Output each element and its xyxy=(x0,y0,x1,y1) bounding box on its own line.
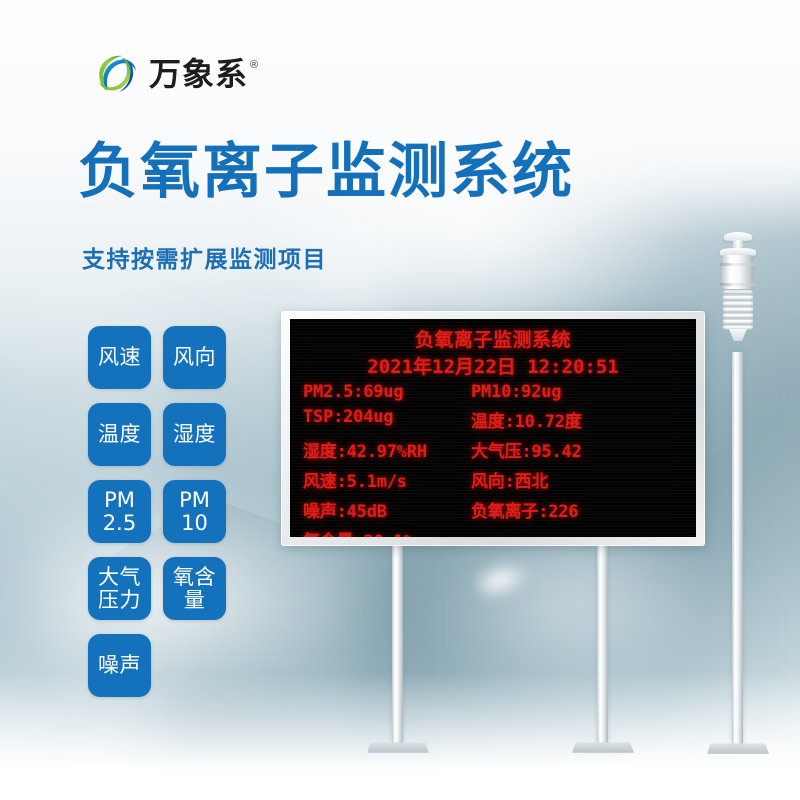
globe-swoosh-icon xyxy=(92,50,140,98)
reading-empty xyxy=(463,527,688,537)
reading-pm10: PM10:92ug xyxy=(463,382,688,402)
led-datetime: 2021年12月22日 12:20:51 xyxy=(290,352,696,379)
led-screen: 负氧离子监测系统 2021年12月22日 12:20:51 PM2.5:69ug… xyxy=(290,319,696,537)
badge-pm25[interactable]: PM 2.5 xyxy=(88,480,151,543)
page-title: 负氧离子监测系统 xyxy=(78,140,574,205)
reading-air-pressure: 大气压:95.42 xyxy=(463,437,688,462)
led-readings-grid: PM2.5:69ug PM10:92ug TSP:204ug 温度:10.72度… xyxy=(303,382,688,537)
support-pole-right xyxy=(597,543,608,743)
sensor-band-upper xyxy=(720,263,756,266)
brand-wordmark: 万象系 ® xyxy=(149,58,258,90)
page-subtitle: 支持按需扩展监测项目 xyxy=(82,240,327,274)
reading-noise: 噪声:45dB xyxy=(303,497,463,522)
badge-wind-speed[interactable]: 风速 xyxy=(88,326,151,389)
reading-pm25: PM2.5:69ug xyxy=(303,382,463,402)
support-pole-left xyxy=(392,543,403,743)
badge-temperature[interactable]: 温度 xyxy=(88,403,151,466)
badge-noise[interactable]: 噪声 xyxy=(88,634,151,697)
badge-pm10[interactable]: PM 10 xyxy=(163,480,226,543)
reading-wind-speed: 风速:5.1m/s xyxy=(303,467,463,492)
reading-temperature: 温度:10.72度 xyxy=(463,407,688,432)
reading-oxygen-content: 氧含量:20.1% xyxy=(303,527,463,537)
weather-sensor-icon xyxy=(716,232,760,362)
sensor-pole xyxy=(732,352,743,744)
sensor-band-lower xyxy=(720,283,756,286)
feature-badge-list: 风速 风向 温度 湿度 PM 2.5 PM 10 大气 压力 氧含 量 噪声 xyxy=(88,326,226,697)
brand-name: 万象系 xyxy=(149,58,248,90)
reading-wind-direction: 风向:西北 xyxy=(463,467,688,492)
badge-air-pressure[interactable]: 大气 压力 xyxy=(88,557,151,620)
reading-humidity: 湿度:42.97%RH xyxy=(303,437,463,462)
badge-oxygen-content[interactable]: 氧含 量 xyxy=(163,557,226,620)
led-screen-title: 负氧离子监测系统 xyxy=(290,325,696,352)
product-banner: 万象系 ® 负氧离子监测系统 支持按需扩展监测项目 风速 风向 温度 湿度 PM… xyxy=(0,0,800,800)
reading-tsp: TSP:204ug xyxy=(303,407,463,432)
reading-negative-oxygen-ion: 负氧离子:226 xyxy=(463,497,688,522)
brand-logo: 万象系 ® xyxy=(92,50,258,98)
badge-humidity[interactable]: 湿度 xyxy=(163,403,226,466)
led-display-board: 负氧离子监测系统 2021年12月22日 12:20:51 PM2.5:69ug… xyxy=(281,311,705,546)
sensor-base-cone xyxy=(729,329,747,341)
badge-wind-direction[interactable]: 风向 xyxy=(163,326,226,389)
registered-mark: ® xyxy=(250,59,258,71)
sensor-radiation-shield xyxy=(723,290,753,330)
